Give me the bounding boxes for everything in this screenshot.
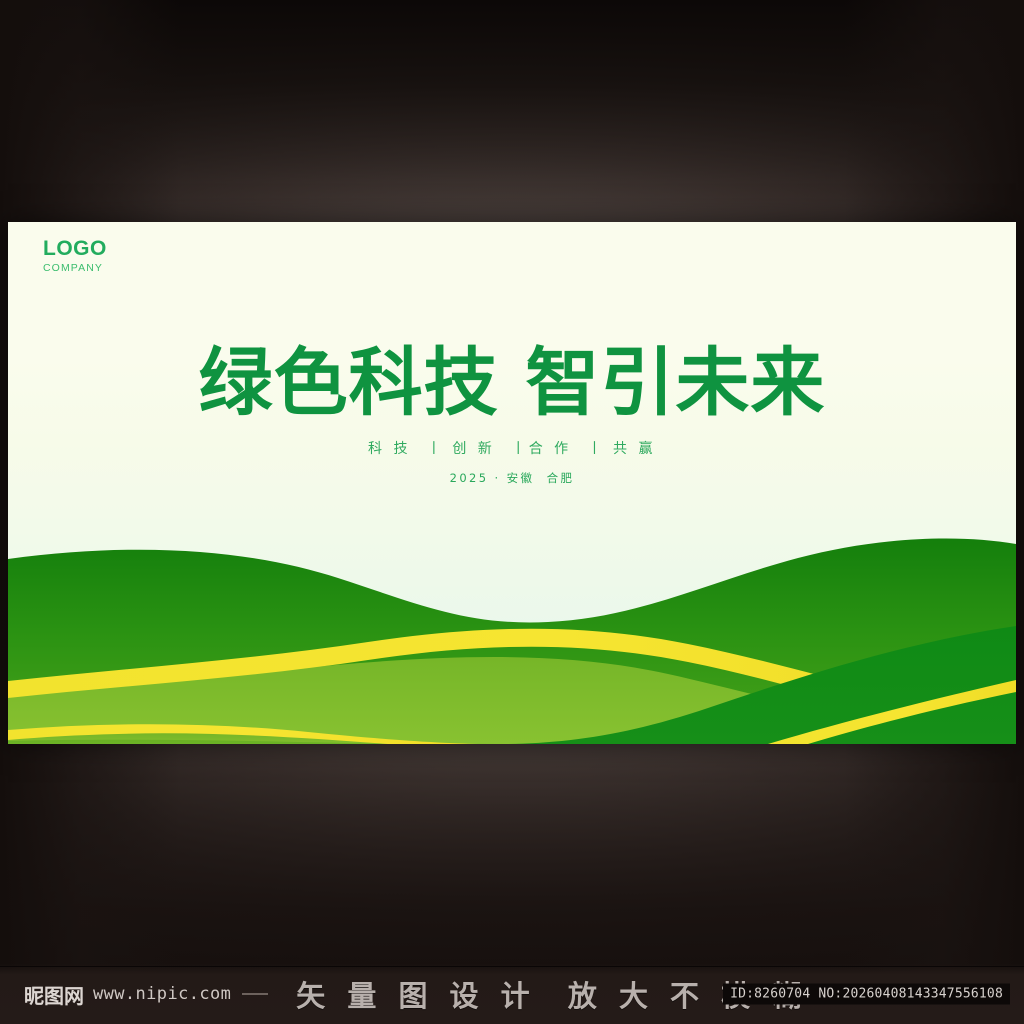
headline-group: 绿色科技 智引未来 科 技 丨 创 新 丨合 作 丨 共 赢 2025 · 安徽… — [8, 346, 1016, 486]
site-branding: 昵图网 www.nipic.com — [24, 980, 268, 1009]
asset-id-code: ID:8260704 NO:20260408143347556108 — [723, 984, 1010, 1005]
watermark-footer: 昵图网 www.nipic.com 矢 量 图 设 计 放 大 不 模 糊 ID… — [0, 964, 1024, 1024]
dash-icon — [242, 993, 268, 995]
site-url[interactable]: www.nipic.com — [93, 984, 231, 1004]
footer-divider — [0, 966, 1024, 967]
site-name-cn: 昵图网 — [24, 980, 84, 1009]
banner-headline: 绿色科技 智引未来 — [8, 346, 1016, 420]
banner-subline: 科 技 丨 创 新 丨合 作 丨 共 赢 — [8, 438, 1016, 458]
banner-artboard: LOGO COMPANY 绿色科技 智引未来 科 技 丨 创 新 丨合 作 丨 … — [8, 222, 1016, 744]
brand-logo: LOGO COMPANY — [43, 238, 107, 274]
logo-subtitle: COMPANY — [43, 263, 107, 274]
logo-title: LOGO — [43, 238, 107, 259]
banner-dateline: 2025 · 安徽 合肥 — [8, 470, 1016, 486]
